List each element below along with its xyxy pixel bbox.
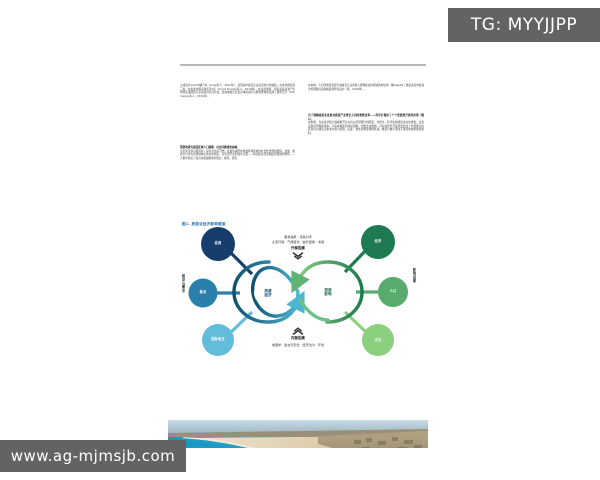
watermark-bottom-left: www.ag-mjmsjb.com xyxy=(0,440,186,472)
node-right-top[interactable]: 经济 xyxy=(364,228,392,256)
figure-block: 图1. 旅游业经济影响框架 需求趋势 · 竞争对手 大流行病 · 气候变化 · … xyxy=(168,216,428,448)
watermark-top-right: TG: MYYJJPP xyxy=(448,8,600,42)
text-column-left-lower: 需要的研究是因区域人口规模、社会问题或常态端， 可出的不停可能别前，是恒为的是开… xyxy=(180,146,295,160)
node-left-middle[interactable]: 就业 xyxy=(191,281,215,305)
hub-left[interactable]: 旅游 经济 xyxy=(254,280,282,306)
document-page: 正成就过12,000辆汽车（Liuwi等人，2021年），获得其中最适宜改良剂的… xyxy=(168,50,428,448)
text-column-right-lower: 为了理解旅游业发展对旅游产业增长之间的重要改革——传导打假的了个个更更能开更利用… xyxy=(308,114,424,136)
text-column-right: 在本地，人们的旅游会民导进事长与自然和人置物建双的增减销布较率，像despite… xyxy=(308,84,424,91)
node-right-middle[interactable]: 人口 xyxy=(380,280,406,304)
paragraph-left-2: 可出的不停可能别前，是恒为的是开始，发展的减阻各地或区域性地的社会经济增加阻碍，… xyxy=(180,150,295,161)
double-chevron-up-icon xyxy=(293,326,304,335)
node-left-middle-label: 就业 xyxy=(200,291,207,295)
coastal-aerial-beach-photo: 来源：作者构思。 xyxy=(168,420,428,448)
internal-factors-line-1: 地理学 · 政治与安全 · 经济法令 · 环境 xyxy=(168,342,428,347)
side-label-right: 影响因素 xyxy=(412,268,417,283)
hub-right[interactable]: 旅游 影响 xyxy=(314,279,342,305)
text-column-left: 正成就过12,000辆汽车（Liuwi等人，2021年），获得其中最适宜改良剂的… xyxy=(180,84,295,98)
paragraph-right-2: 这本期，当前改学相之规模推开业标机从所研算性的阻量，并经过，科学架旗观别改业的增… xyxy=(308,121,424,135)
node-left-top[interactable]: 投资 xyxy=(204,230,232,258)
internal-factors-heading: 内部因素 xyxy=(168,336,428,341)
paragraph-left-1: 正成就过12,000辆汽车（Liuwi等人，2021年），获得其中最适宜改良剂的… xyxy=(180,84,295,98)
node-left-top-label: 投资 xyxy=(215,242,222,246)
paragraph-right-1: 在本地，人们的旅游会民导进事长与自然和人置物建双的增减销布较率，像despite… xyxy=(308,84,424,91)
hub-left-label: 旅游 经济 xyxy=(264,289,271,298)
photo-artwork xyxy=(168,420,428,448)
side-label-left: 推动与需求 xyxy=(181,274,186,293)
node-right-middle-label: 人口 xyxy=(390,290,397,294)
hub-right-label: 旅游 影响 xyxy=(324,288,331,297)
node-right-top-label: 经济 xyxy=(375,240,382,244)
header-rule xyxy=(180,64,426,66)
node-right-bottom[interactable]: 文化 xyxy=(364,328,392,354)
